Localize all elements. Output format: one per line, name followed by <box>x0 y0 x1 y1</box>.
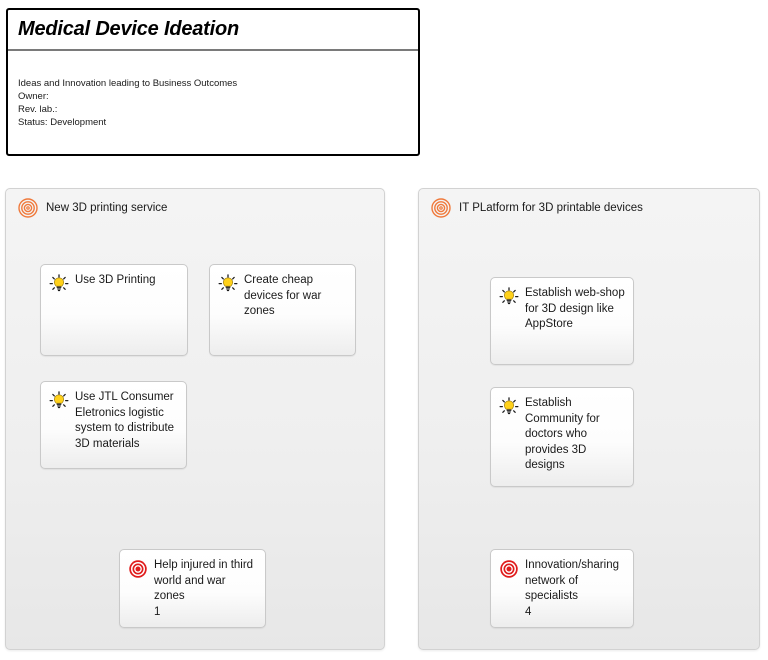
board-title-header: Medical Device Ideation <box>8 10 418 51</box>
board-revlab-label: Rev. lab.: <box>18 103 418 116</box>
board-title-card: Medical Device Ideation Ideas and Innova… <box>6 8 420 156</box>
idea-card-text: Use 3D Printing <box>75 273 156 289</box>
idea-card-cheap-devices[interactable]: Create cheap devices for war zones <box>209 264 356 356</box>
target-bullseye-icon <box>128 559 148 579</box>
idea-card-use-3d-printing[interactable]: Use 3D Printing <box>40 264 188 356</box>
outcome-card-count: 4 <box>499 605 625 621</box>
outcome-card-innovation-network[interactable]: Innovation/sharing network of specialist… <box>490 549 634 628</box>
board-owner-label: Owner: <box>18 90 418 103</box>
idea-card-web-shop[interactable]: Establish web-shop for 3D design like Ap… <box>490 277 634 365</box>
target-rings-icon <box>18 198 38 218</box>
outcome-card-text: Help injured in third world and war zone… <box>154 558 257 605</box>
board-subtitle: Ideas and Innovation leading to Business… <box>18 77 418 90</box>
panel-title: IT PLatform for 3D printable devices <box>459 202 643 214</box>
page-title: Medical Device Ideation <box>18 18 239 41</box>
idea-card-text: Establish Community for doctors who prov… <box>525 396 625 474</box>
lightbulb-icon <box>49 274 69 294</box>
outcome-card-count: 1 <box>128 605 257 621</box>
board-title-details: Ideas and Innovation leading to Business… <box>8 51 418 129</box>
outcome-card-help-injured[interactable]: Help injured in third world and war zone… <box>119 549 266 628</box>
panel-header: New 3D printing service <box>6 189 384 219</box>
board-status-label: Status: Development <box>18 116 418 129</box>
lightbulb-icon <box>218 274 238 294</box>
idea-card-text: Create cheap devices for war zones <box>244 273 347 320</box>
lightbulb-icon <box>499 287 519 307</box>
outcome-card-text: Innovation/sharing network of specialist… <box>525 558 625 605</box>
panel-header: IT PLatform for 3D printable devices <box>419 189 759 219</box>
target-rings-icon <box>431 198 451 218</box>
lightbulb-icon <box>499 397 519 417</box>
idea-card-jtl-logistics[interactable]: Use JTL Consumer Eletronics logistic sys… <box>40 381 187 469</box>
idea-card-text: Use JTL Consumer Eletronics logistic sys… <box>75 390 178 452</box>
idea-card-community[interactable]: Establish Community for doctors who prov… <box>490 387 634 487</box>
panel-title: New 3D printing service <box>46 202 167 214</box>
target-bullseye-icon <box>499 559 519 579</box>
idea-card-text: Establish web-shop for 3D design like Ap… <box>525 286 625 333</box>
lightbulb-icon <box>49 391 69 411</box>
